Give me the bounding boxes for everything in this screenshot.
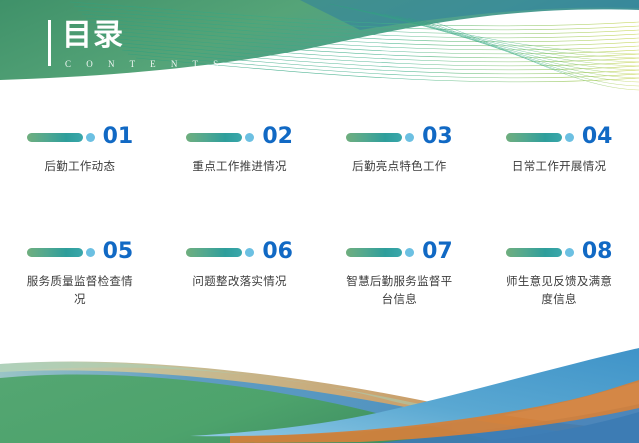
agenda-item-06[interactable]: 06 问题整改落实情况 <box>160 233 320 348</box>
agenda-number: 04 <box>582 125 613 149</box>
agenda-label: 后勤亮点特色工作 <box>343 157 455 175</box>
agenda-item-06-head: 06 <box>186 239 293 265</box>
agenda-item-01-head: 01 <box>27 124 134 150</box>
bar-tip-icon <box>245 248 254 257</box>
agenda-item-07-head: 07 <box>346 239 453 265</box>
agenda-item-01[interactable]: 01 后勤工作动态 <box>0 118 160 233</box>
agenda-label: 后勤工作动态 <box>24 157 136 175</box>
agenda-item-08[interactable]: 08 师生意见反馈及满意度信息 <box>479 233 639 348</box>
agenda-item-02-head: 02 <box>186 124 293 150</box>
agenda-number: 02 <box>262 125 293 149</box>
agenda-number: 07 <box>422 240 453 264</box>
page-title: 目录 <box>62 18 225 54</box>
bar-tip-icon <box>405 133 414 142</box>
gradient-bar-icon <box>186 133 242 142</box>
header-title-group: 目录 C O N T E N T S <box>48 18 225 71</box>
agenda-item-04[interactable]: 04 日常工作开展情况 <box>479 118 639 233</box>
agenda-label: 智慧后勤服务监督平台信息 <box>343 272 455 308</box>
bar-tip-icon <box>405 248 414 257</box>
gradient-bar-icon <box>346 248 402 257</box>
bar-tip-icon <box>245 133 254 142</box>
gradient-bar-icon <box>27 248 83 257</box>
agenda-number: 08 <box>582 240 613 264</box>
header-banner: 目录 C O N T E N T S <box>0 0 639 115</box>
header-decoration-svg <box>0 0 639 115</box>
agenda-item-08-head: 08 <box>506 239 613 265</box>
gradient-bar-icon <box>506 248 562 257</box>
gradient-bar-icon <box>186 248 242 257</box>
agenda-number: 01 <box>103 125 134 149</box>
agenda-item-07[interactable]: 07 智慧后勤服务监督平台信息 <box>320 233 480 348</box>
agenda-label: 问题整改落实情况 <box>184 272 296 290</box>
agenda-label: 师生意见反馈及满意度信息 <box>503 272 615 308</box>
agenda-number: 03 <box>422 125 453 149</box>
agenda-label: 服务质量监督检查情况 <box>24 272 136 308</box>
agenda-item-05-head: 05 <box>27 239 134 265</box>
slide-canvas: 目录 C O N T E N T S 01 后勤工作动态 02 重点工作推进情况 <box>0 0 639 443</box>
bar-tip-icon <box>86 248 95 257</box>
gradient-bar-icon <box>27 133 83 142</box>
footer-wave-svg <box>0 338 639 443</box>
page-subtitle: C O N T E N T S <box>65 57 225 71</box>
bar-tip-icon <box>565 133 574 142</box>
title-accent-rule <box>48 20 51 66</box>
agenda-grid: 01 后勤工作动态 02 重点工作推进情况 03 后勤亮点特色工作 <box>0 118 639 348</box>
agenda-item-03[interactable]: 03 后勤亮点特色工作 <box>320 118 480 233</box>
agenda-number: 05 <box>103 240 134 264</box>
bar-tip-icon <box>86 133 95 142</box>
agenda-label: 日常工作开展情况 <box>503 157 615 175</box>
footer-decoration <box>0 338 639 443</box>
agenda-item-04-head: 04 <box>506 124 613 150</box>
agenda-number: 06 <box>262 240 293 264</box>
bar-tip-icon <box>565 248 574 257</box>
gradient-bar-icon <box>346 133 402 142</box>
agenda-label: 重点工作推进情况 <box>184 157 296 175</box>
agenda-item-02[interactable]: 02 重点工作推进情况 <box>160 118 320 233</box>
gradient-bar-icon <box>506 133 562 142</box>
agenda-item-05[interactable]: 05 服务质量监督检查情况 <box>0 233 160 348</box>
agenda-item-03-head: 03 <box>346 124 453 150</box>
